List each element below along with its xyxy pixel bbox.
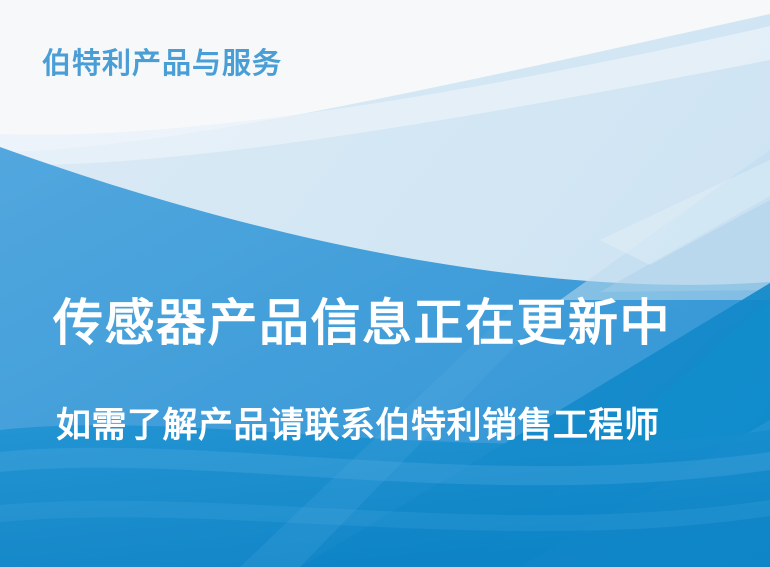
sub-title: 如需了解产品请联系伯特利销售工程师 — [56, 407, 660, 446]
text-layer: 伯特利产品与服务 传感器产品信息正在更新中 如需了解产品请联系伯特利销售工程师 — [0, 0, 770, 567]
brand-heading: 伯特利产品与服务 — [42, 49, 282, 81]
product-banner: 伯特利产品与服务 传感器产品信息正在更新中 如需了解产品请联系伯特利销售工程师 — [0, 0, 770, 567]
main-title: 传感器产品信息正在更新中 — [53, 296, 671, 350]
